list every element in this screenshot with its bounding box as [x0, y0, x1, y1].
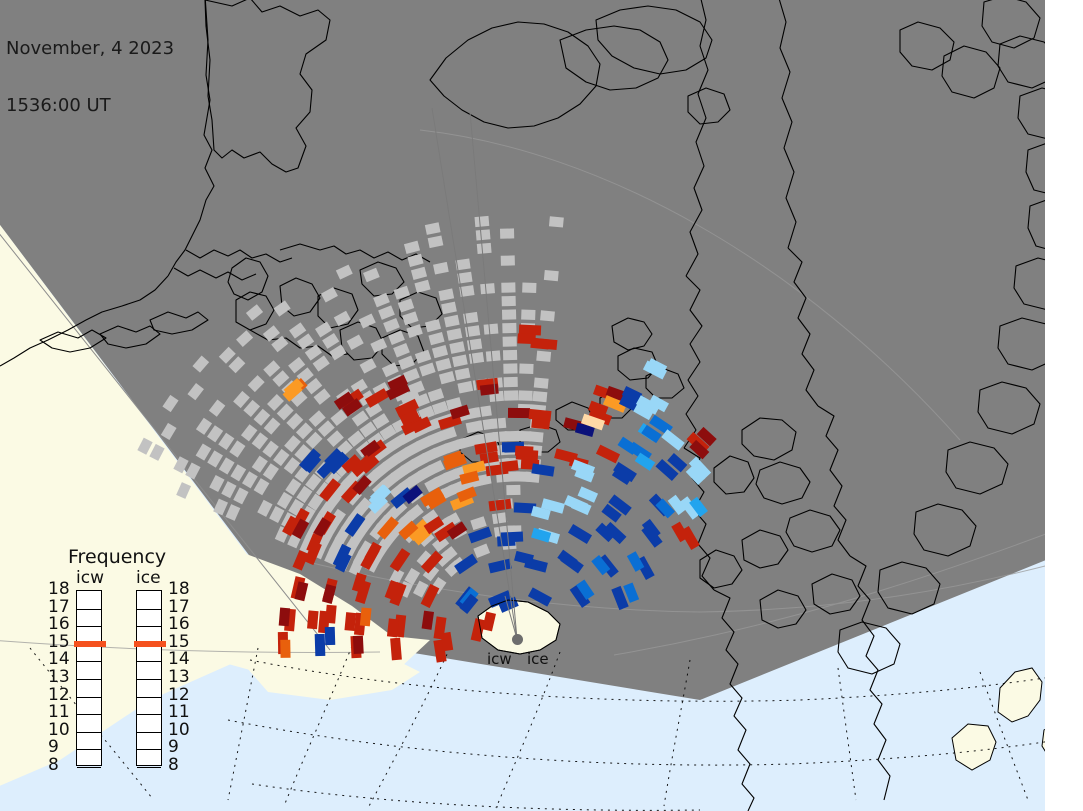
velocity-cell — [508, 408, 530, 418]
ground-scatter-cell — [540, 310, 555, 321]
ground-scatter-cell — [501, 282, 515, 292]
velocity-cell — [325, 605, 337, 624]
frequency-marker — [134, 641, 166, 647]
ground-scatter-cell — [492, 418, 507, 429]
ground-scatter-cell — [501, 255, 515, 265]
ground-scatter-cell — [492, 512, 507, 524]
ground-scatter-cell — [518, 390, 532, 400]
ground-scatter-cell — [480, 283, 495, 294]
velocity-cell — [531, 418, 550, 430]
radar-site-label-icw: icw — [487, 650, 512, 668]
frequency-gridline — [137, 626, 161, 627]
freq-scale-label-left: 8 — [48, 755, 59, 775]
date-label: November, 4 2023 — [6, 39, 174, 58]
ground-scatter-cell — [502, 323, 516, 333]
frequency-gridline — [137, 609, 161, 610]
frequency-gridline — [77, 609, 101, 610]
ground-scatter-cell — [478, 419, 493, 431]
velocity-cell — [530, 338, 549, 350]
velocity-cell — [360, 607, 372, 626]
frequency-gridline — [77, 767, 101, 768]
ground-scatter-cell — [502, 309, 516, 319]
ground-scatter-cell — [521, 309, 535, 319]
ground-scatter-cell — [486, 350, 501, 361]
frequency-legend: Frequency icw ice 18171615141312111098 1… — [60, 546, 210, 786]
frequency-gridline — [77, 697, 101, 698]
ground-scatter-cell — [532, 391, 547, 402]
ground-scatter-cell — [502, 296, 516, 306]
ground-scatter-cell — [503, 363, 517, 373]
frequency-gridline — [137, 767, 161, 768]
frequency-legend-title: Frequency — [68, 546, 166, 568]
velocity-cell — [325, 627, 336, 645]
frequency-gridline — [77, 732, 101, 733]
velocity-cell — [480, 384, 499, 396]
frequency-marker — [74, 641, 106, 647]
ground-scatter-cell — [500, 228, 514, 238]
ground-scatter-cell — [477, 243, 492, 254]
ground-scatter-cell — [506, 485, 520, 495]
velocity-cell — [515, 446, 534, 457]
ground-scatter-cell — [484, 324, 499, 335]
ground-scatter-cell — [519, 363, 533, 373]
ground-scatter-cell — [503, 350, 517, 360]
ground-scatter-cell — [477, 405, 492, 417]
velocity-cell — [353, 636, 364, 654]
ground-scatter-cell — [522, 282, 536, 292]
frequency-gridline — [77, 661, 101, 662]
ground-scatter-cell — [544, 270, 559, 281]
velocity-cell — [307, 610, 319, 629]
frequency-gridline — [77, 714, 101, 715]
ground-scatter-cell — [534, 377, 549, 388]
ground-scatter-cell — [476, 229, 491, 240]
velocity-cell — [344, 612, 356, 631]
ground-scatter-cell — [504, 390, 518, 400]
frequency-column-label-icw: icw — [76, 568, 104, 588]
ground-scatter-cell — [549, 216, 564, 227]
ground-scatter-cell — [529, 431, 544, 442]
radar-map-screenshot: November, 4 2023 1536:00 UT Velocity (m/… — [0, 0, 1083, 811]
frequency-gridline — [77, 626, 101, 627]
frequency-gridline — [77, 749, 101, 750]
frequency-gridline — [137, 714, 161, 715]
frequency-gridline — [77, 679, 101, 680]
radar-site-marker — [512, 634, 523, 645]
ground-scatter-cell — [475, 216, 490, 227]
frequency-gridline — [137, 697, 161, 698]
velocity-cell — [387, 618, 399, 637]
frequency-bar-icw — [76, 590, 102, 766]
ground-scatter-cell — [536, 351, 551, 362]
frequency-gridline — [137, 679, 161, 680]
velocity-cell — [280, 640, 290, 658]
frequency-gridline — [137, 661, 161, 662]
ground-scatter-cell — [504, 377, 518, 387]
velocity-cell — [390, 638, 402, 661]
velocity-colorbar-panel: Velocity (m/s) 5004003002001000-100-200-… — [950, 0, 1083, 811]
frequency-gridline — [137, 732, 161, 733]
velocity-cell — [279, 608, 290, 627]
frequency-column-label-ice: ice — [136, 568, 161, 588]
radar-site-label-ice: ice — [527, 650, 549, 668]
ground-scatter-cell — [503, 336, 517, 346]
timestamp-block: November, 4 2023 1536:00 UT — [6, 1, 174, 153]
time-label: 1536:00 UT — [6, 96, 174, 115]
velocity-cell — [315, 634, 326, 656]
frequency-gridline — [137, 749, 161, 750]
velocity-cell — [497, 536, 515, 547]
freq-scale-label-right: 8 — [168, 755, 179, 775]
frequency-bar-ice — [136, 590, 162, 766]
